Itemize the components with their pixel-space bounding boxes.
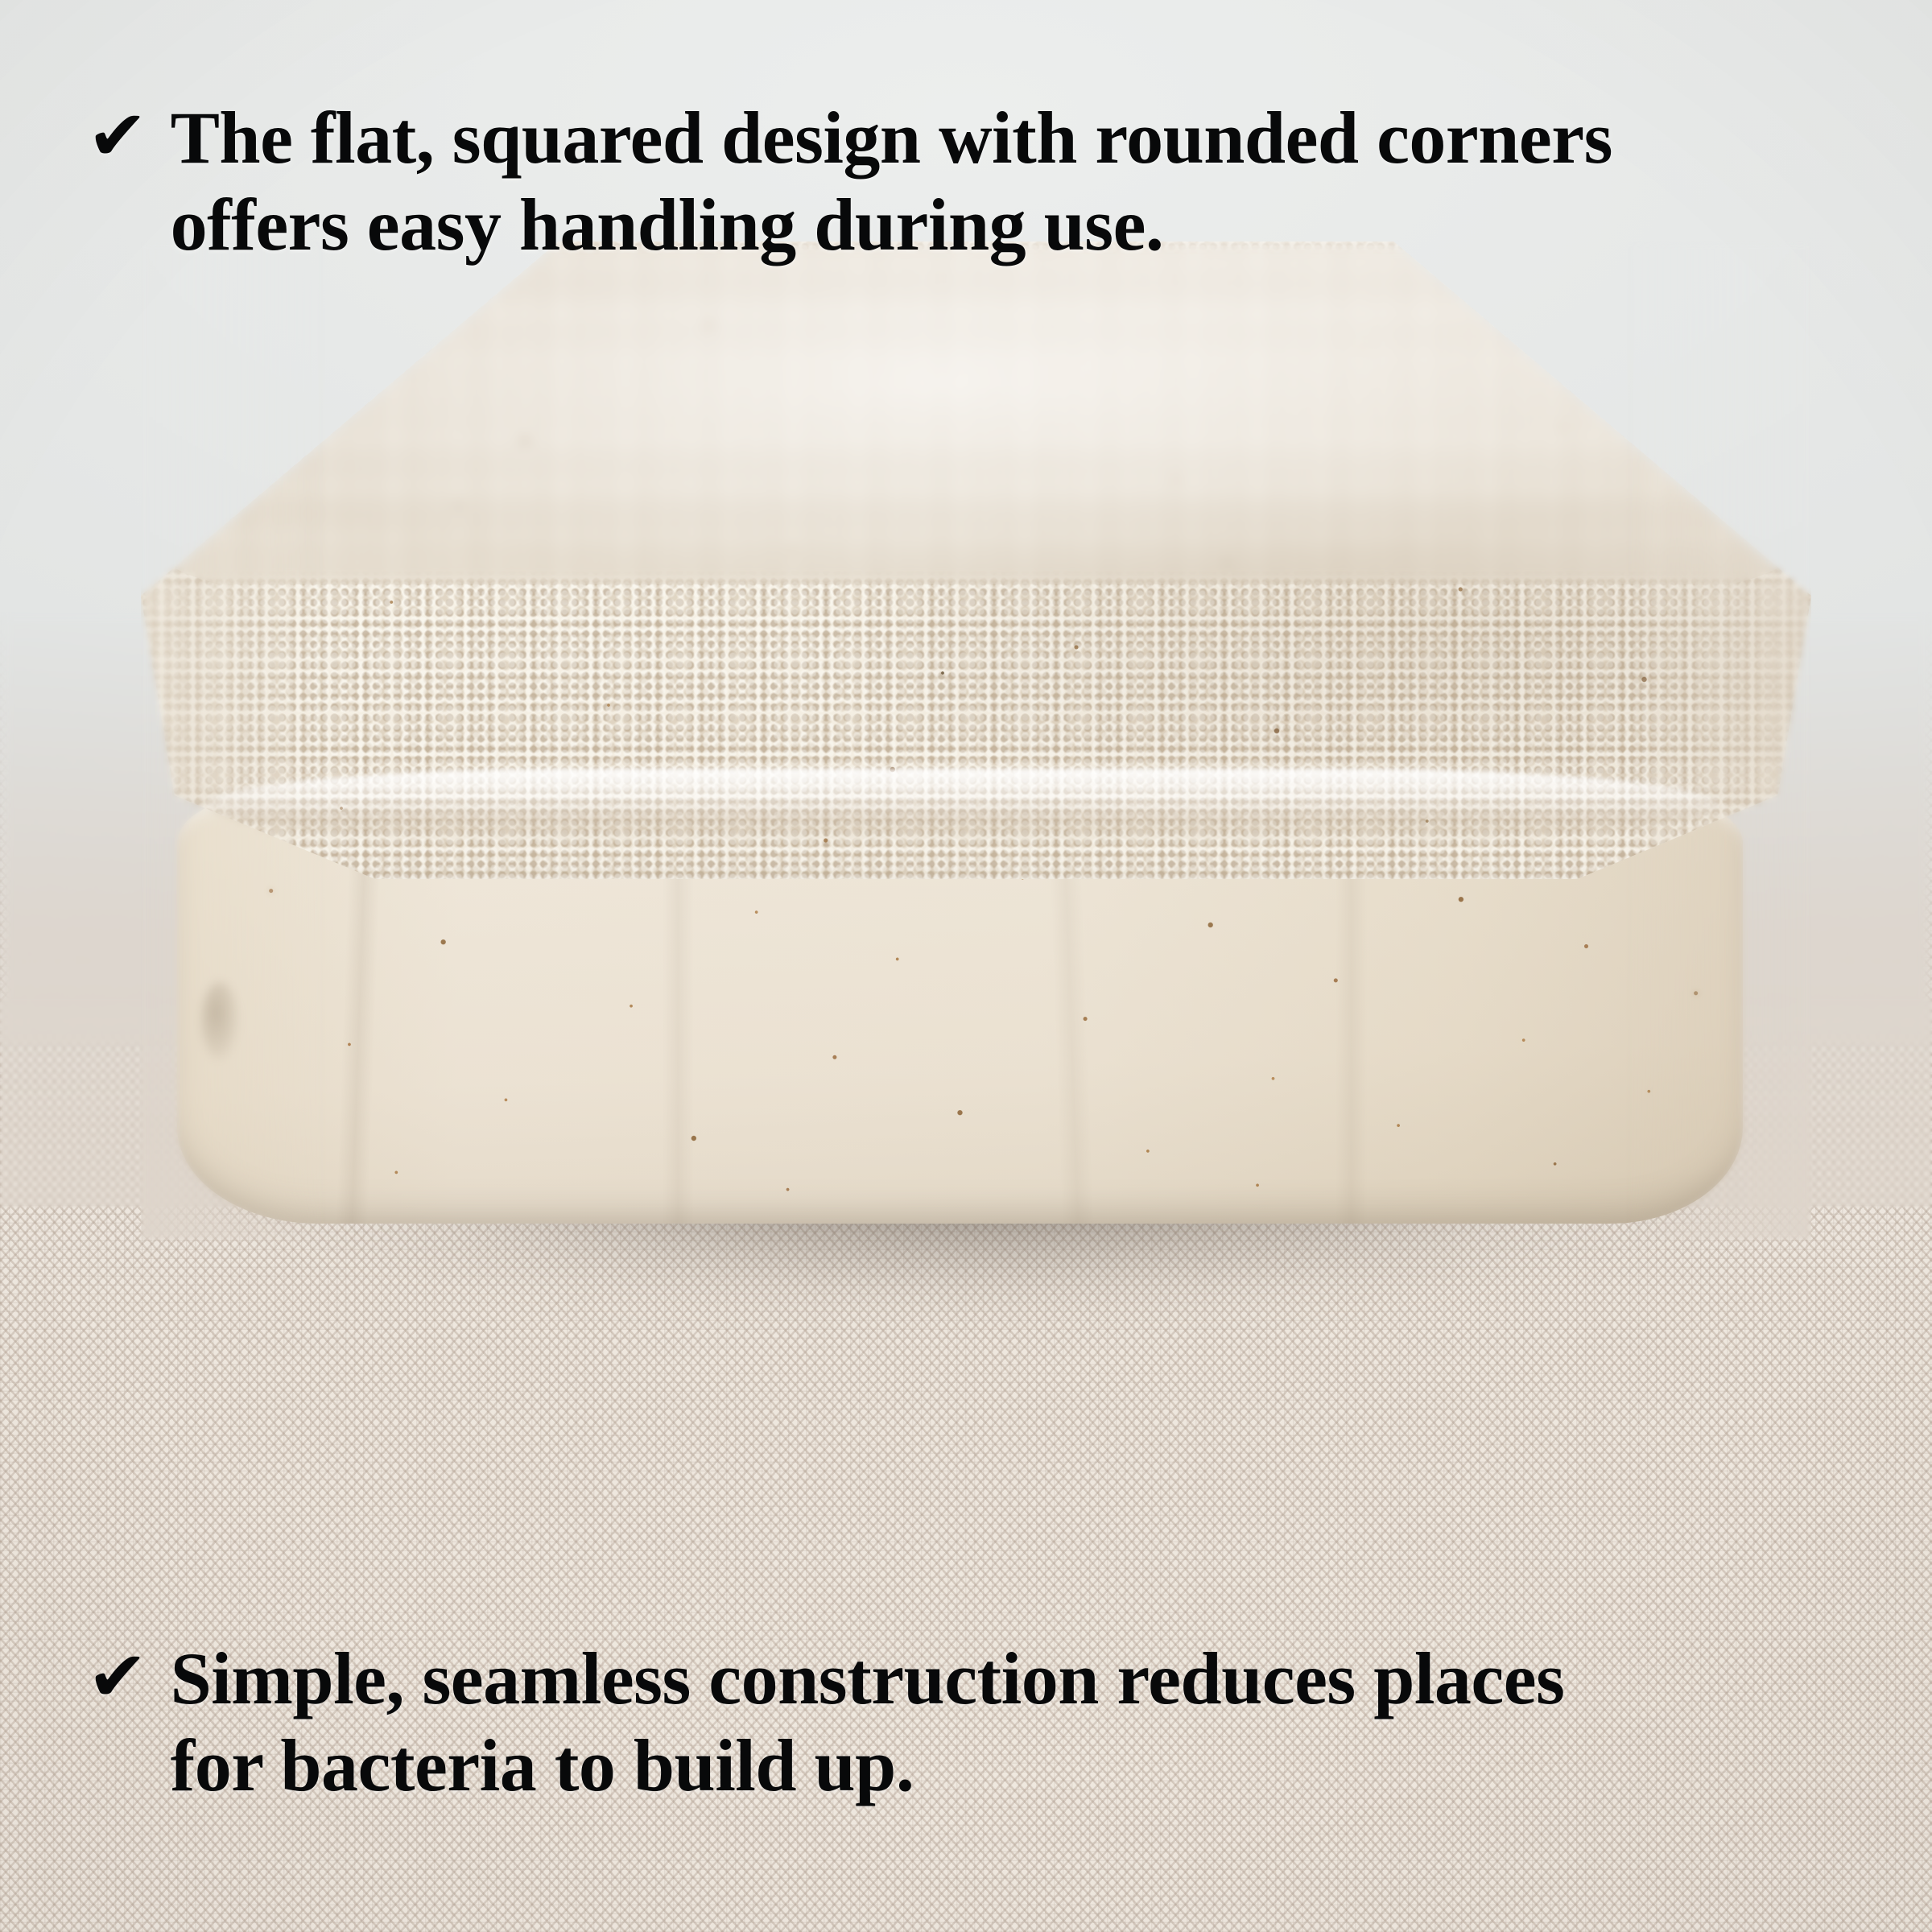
callout-design-text: The flat, squared design with rounded co… xyxy=(171,95,1652,268)
checkmark-icon: ✔ xyxy=(87,1637,147,1716)
product-feature-image: ✔ The flat, squared design with rounded … xyxy=(0,0,1932,1932)
checkmark-icon: ✔ xyxy=(87,97,147,175)
callout-design: ✔ The flat, squared design with rounded … xyxy=(89,95,1652,268)
callout-hygiene: ✔ Simple, seamless construction reduces … xyxy=(89,1636,1652,1809)
callout-hygiene-text: Simple, seamless construction reduces pl… xyxy=(171,1636,1652,1809)
